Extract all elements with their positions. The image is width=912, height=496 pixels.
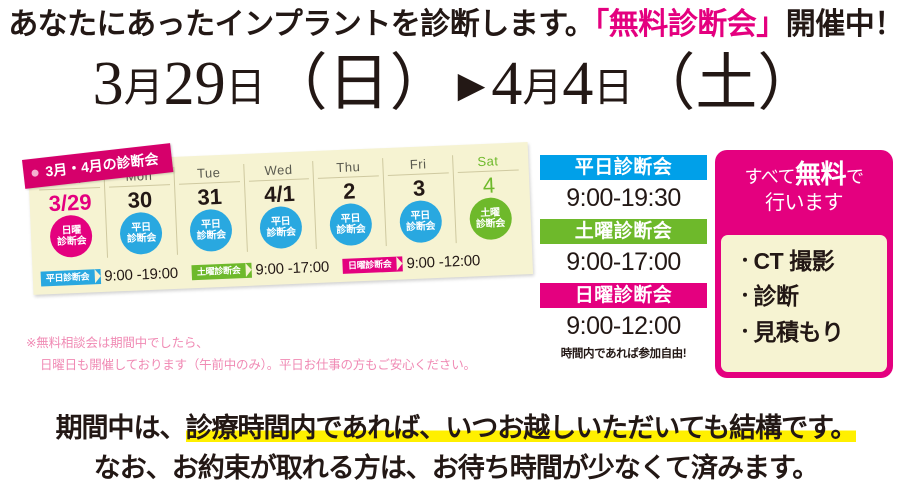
list-item: ・CT 撮影 bbox=[737, 244, 887, 279]
calendar-day-badge: 平日 診断会 bbox=[119, 211, 163, 255]
start-dow: （日） bbox=[266, 50, 452, 118]
calendar-day-number: 4 bbox=[454, 171, 524, 200]
legend-tag-sunday: 日曜診断会 bbox=[343, 256, 403, 273]
calendar-day-number: 30 bbox=[105, 185, 175, 214]
free-service-label: 見積もり bbox=[754, 319, 844, 345]
hours-time-weekday: 9:00-19:30 bbox=[540, 180, 707, 219]
badge-line-1: 平日 bbox=[201, 219, 221, 231]
badge-line-2: 診断会 bbox=[127, 232, 157, 244]
legend-tag-saturday: 土曜診断会 bbox=[192, 262, 252, 279]
badge-line-1: 平日 bbox=[341, 213, 361, 225]
badge-line-1: 平日 bbox=[410, 210, 430, 222]
calendar-day-thu: Thu 2 平日 診断会 bbox=[314, 158, 387, 249]
free-header-post: で bbox=[846, 167, 864, 187]
headline-accent: 「無料診断会」 bbox=[594, 8, 786, 41]
badge-line-1: 日曜 bbox=[61, 224, 81, 236]
calendar-day-mon: Mon 30 平日 診断会 bbox=[104, 167, 177, 258]
list-item: ・見積もり bbox=[737, 315, 887, 350]
calendar-dow-label: Sat bbox=[453, 152, 522, 170]
calendar-day-badge: 平日 診断会 bbox=[189, 208, 233, 252]
free-services-header: すべて無料で 行います bbox=[715, 150, 893, 215]
bottom-message: 期間中は、診療時間内であれば、いつお越しいただいても結構です。 なお、お約束が取… bbox=[0, 409, 912, 488]
bottom-message-line-1: 期間中は、診療時間内であれば、いつお越しいただいても結構です。 bbox=[0, 409, 912, 449]
free-header-strong: 無料 bbox=[795, 159, 846, 189]
badge-line-2: 診断会 bbox=[57, 235, 87, 247]
end-day-kanji: 日 bbox=[593, 65, 633, 110]
calendar-dow-label: Tue bbox=[174, 164, 243, 182]
calendar-day-number: 31 bbox=[175, 182, 245, 211]
calendar-day-badge: 平日 診断会 bbox=[329, 202, 373, 246]
calendar-day-badge: 平日 診断会 bbox=[399, 199, 443, 243]
free-services-list: ・CT 撮影 ・診断 ・見積もり bbox=[721, 235, 887, 372]
calendar-day-badge: 日曜 診断会 bbox=[50, 214, 94, 258]
headline-lead: あなたにあったインプラントを診断します。 bbox=[8, 8, 594, 41]
start-day-number: 29 bbox=[164, 50, 226, 118]
calendar-day-number: 3 bbox=[384, 174, 454, 203]
arrow-right-icon: ▶ bbox=[452, 65, 492, 105]
bottom-line-1-pre: 期間中は、 bbox=[56, 413, 186, 443]
headline: あなたにあったインプラントを診断します。「無料診断会」開催中！ bbox=[0, 8, 912, 43]
legend-time-weekday: 9:00 -19:00 bbox=[104, 264, 178, 284]
calendar-day-sat: Sat 4 土曜 診断会 bbox=[453, 152, 525, 243]
headline-tail: 開催中！ bbox=[786, 8, 904, 41]
footnote-line-1: ※無料相談会は期間中でしたら、 bbox=[26, 336, 208, 350]
calendar-day-number: 4/1 bbox=[245, 179, 315, 208]
start-day-kanji: 日 bbox=[226, 65, 266, 110]
free-header-pre: すべて bbox=[744, 167, 795, 187]
badge-line-1: 平日 bbox=[271, 216, 291, 228]
footnote: ※無料相談会は期間中でしたら、 日曜日も開催しております（午前中のみ）。平日お仕… bbox=[26, 333, 546, 377]
badge-line-2: 診断会 bbox=[336, 224, 366, 236]
badge-line-2: 診断会 bbox=[266, 226, 296, 238]
badge-line-2: 診断会 bbox=[476, 218, 506, 230]
end-day-number: 4 bbox=[562, 50, 593, 118]
calendar-day-number: 2 bbox=[314, 176, 384, 205]
hours-time-saturday: 9:00-17:00 bbox=[540, 244, 707, 283]
end-month-number: 4 bbox=[491, 50, 522, 118]
bottom-line-1-highlight: 診療時間内であれば、いつお越しいただいても結構です。 bbox=[186, 413, 857, 443]
list-item: ・診断 bbox=[737, 279, 887, 314]
footnote-line-2: 日曜日も開催しております（午前中のみ）。平日お仕事の方もご安心ください。 bbox=[26, 355, 546, 377]
calendar-day-number: 3/29 bbox=[35, 188, 105, 217]
calendar-day-wed: Wed 4/1 平日 診断会 bbox=[244, 161, 317, 252]
end-dow: （土） bbox=[633, 50, 819, 118]
legend-time-saturday: 9:00 -17:00 bbox=[255, 258, 329, 278]
hours-time-sunday: 9:00-12:00 bbox=[540, 308, 707, 347]
free-service-label: CT 撮影 bbox=[754, 248, 835, 274]
badge-line-2: 診断会 bbox=[406, 221, 436, 233]
start-month-number: 3 bbox=[93, 50, 124, 118]
hours-header-sunday: 日曜診断会 bbox=[540, 283, 707, 308]
free-service-label: 診断 bbox=[754, 283, 799, 309]
hours-header-weekday: 平日診断会 bbox=[540, 155, 707, 180]
start-month-kanji: 月 bbox=[124, 65, 164, 110]
bullet-icon: ・ bbox=[737, 324, 754, 341]
calendar-day-fri: Fri 3 平日 診断会 bbox=[383, 155, 456, 246]
calendar-day-badge: 土曜 診断会 bbox=[468, 196, 512, 240]
date-range: 3月29日（日）▶4月4日（土） bbox=[0, 52, 912, 117]
bullet-icon: ・ bbox=[737, 253, 754, 270]
free-services-panel: すべて無料で 行います ・CT 撮影 ・診断 ・見積もり bbox=[715, 150, 893, 378]
badge-line-2: 診断会 bbox=[197, 229, 227, 241]
calendar-dow-label: Fri bbox=[383, 155, 452, 173]
bullet-icon: ・ bbox=[737, 288, 754, 305]
legend-tag-weekday: 平日診断会 bbox=[41, 269, 101, 286]
bottom-message-line-2: なお、お約束が取れる方は、お待ち時間が少なくて済みます。 bbox=[0, 449, 912, 489]
legend-time-sunday: 9:00 -12:00 bbox=[406, 252, 480, 272]
hours-note: 時間内であれば参加自由! bbox=[540, 345, 707, 361]
calendar-dow-label: Thu bbox=[314, 158, 383, 176]
badge-line-1: 平日 bbox=[131, 222, 151, 234]
hours-panel: 平日診断会 9:00-19:30 土曜診断会 9:00-17:00 日曜診断会 … bbox=[540, 155, 707, 361]
calendar-day-tue: Tue 31 平日 診断会 bbox=[174, 164, 247, 255]
badge-line-1: 土曜 bbox=[480, 207, 500, 219]
hours-header-saturday: 土曜診断会 bbox=[540, 219, 707, 244]
calendar-dow-label: Wed bbox=[244, 161, 313, 179]
calendar-day-badge: 平日 診断会 bbox=[259, 205, 303, 249]
end-month-kanji: 月 bbox=[522, 65, 562, 110]
free-header-line-2: 行います bbox=[715, 191, 893, 215]
